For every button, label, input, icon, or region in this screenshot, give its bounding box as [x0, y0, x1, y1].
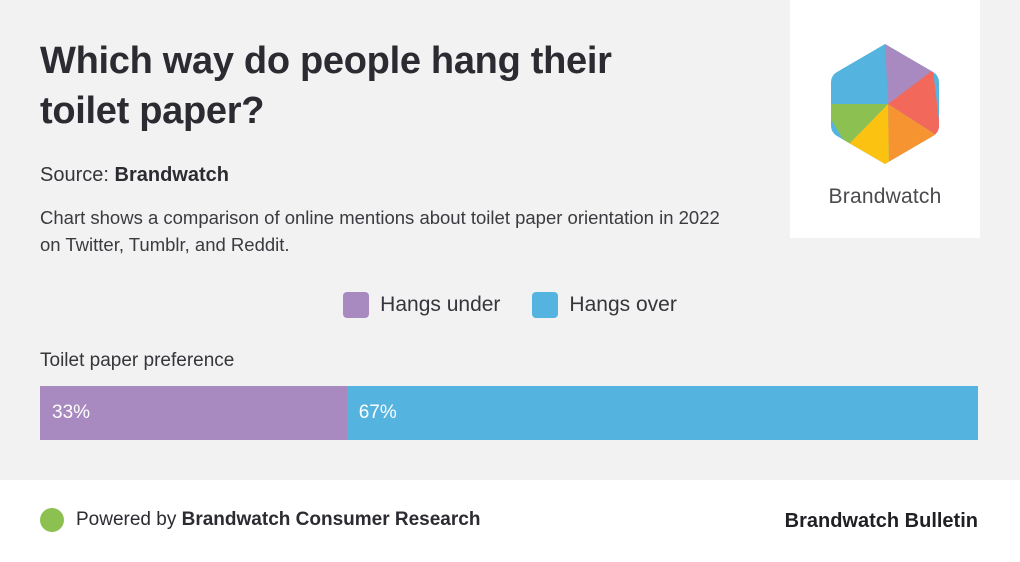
brandwatch-logo-panel: Brandwatch — [790, 0, 980, 238]
chart-legend: Hangs under Hangs over — [40, 292, 980, 318]
legend-swatch-icon — [532, 292, 558, 318]
legend-swatch-icon — [343, 292, 369, 318]
powered-by-dot-icon — [40, 508, 64, 532]
brandwatch-hexagon-icon — [829, 42, 941, 171]
page-title: Which way do people hang their toilet pa… — [40, 36, 700, 136]
source-label: Source: — [40, 164, 109, 186]
legend-item-hangs-over[interactable]: Hangs over — [532, 292, 676, 318]
bar-segment-value: 67% — [359, 402, 397, 424]
source-value: Brandwatch — [115, 164, 229, 186]
stacked-bar: 33% 67% — [40, 386, 978, 440]
powered-by-brand: Brandwatch Consumer Research — [182, 509, 481, 530]
source-line: Source: Brandwatch — [40, 164, 229, 187]
powered-by-prefix: Powered by — [76, 509, 182, 530]
legend-item-label: Hangs under — [380, 293, 500, 317]
legend-item-label: Hangs over — [569, 293, 676, 317]
powered-by-text: Powered by Brandwatch Consumer Research — [76, 509, 480, 531]
bar-segment-value: 33% — [52, 402, 90, 424]
bar-segment-hangs-under[interactable]: 33% — [40, 386, 347, 440]
brandwatch-wordmark: Brandwatch — [829, 185, 942, 209]
bar-row-label: Toilet paper preference — [40, 350, 234, 372]
card-footer: Powered by Brandwatch Consumer Research … — [0, 480, 1020, 562]
bulletin-label: Brandwatch Bulletin — [785, 510, 978, 533]
bar-segment-hangs-over[interactable]: 67% — [347, 386, 978, 440]
legend-item-hangs-under[interactable]: Hangs under — [343, 292, 500, 318]
chart-card: Which way do people hang their toilet pa… — [0, 0, 1020, 562]
powered-by-block: Powered by Brandwatch Consumer Research — [40, 508, 480, 532]
chart-description: Chart shows a comparison of online menti… — [40, 204, 740, 259]
chart-content-area: Which way do people hang their toilet pa… — [0, 0, 1020, 480]
